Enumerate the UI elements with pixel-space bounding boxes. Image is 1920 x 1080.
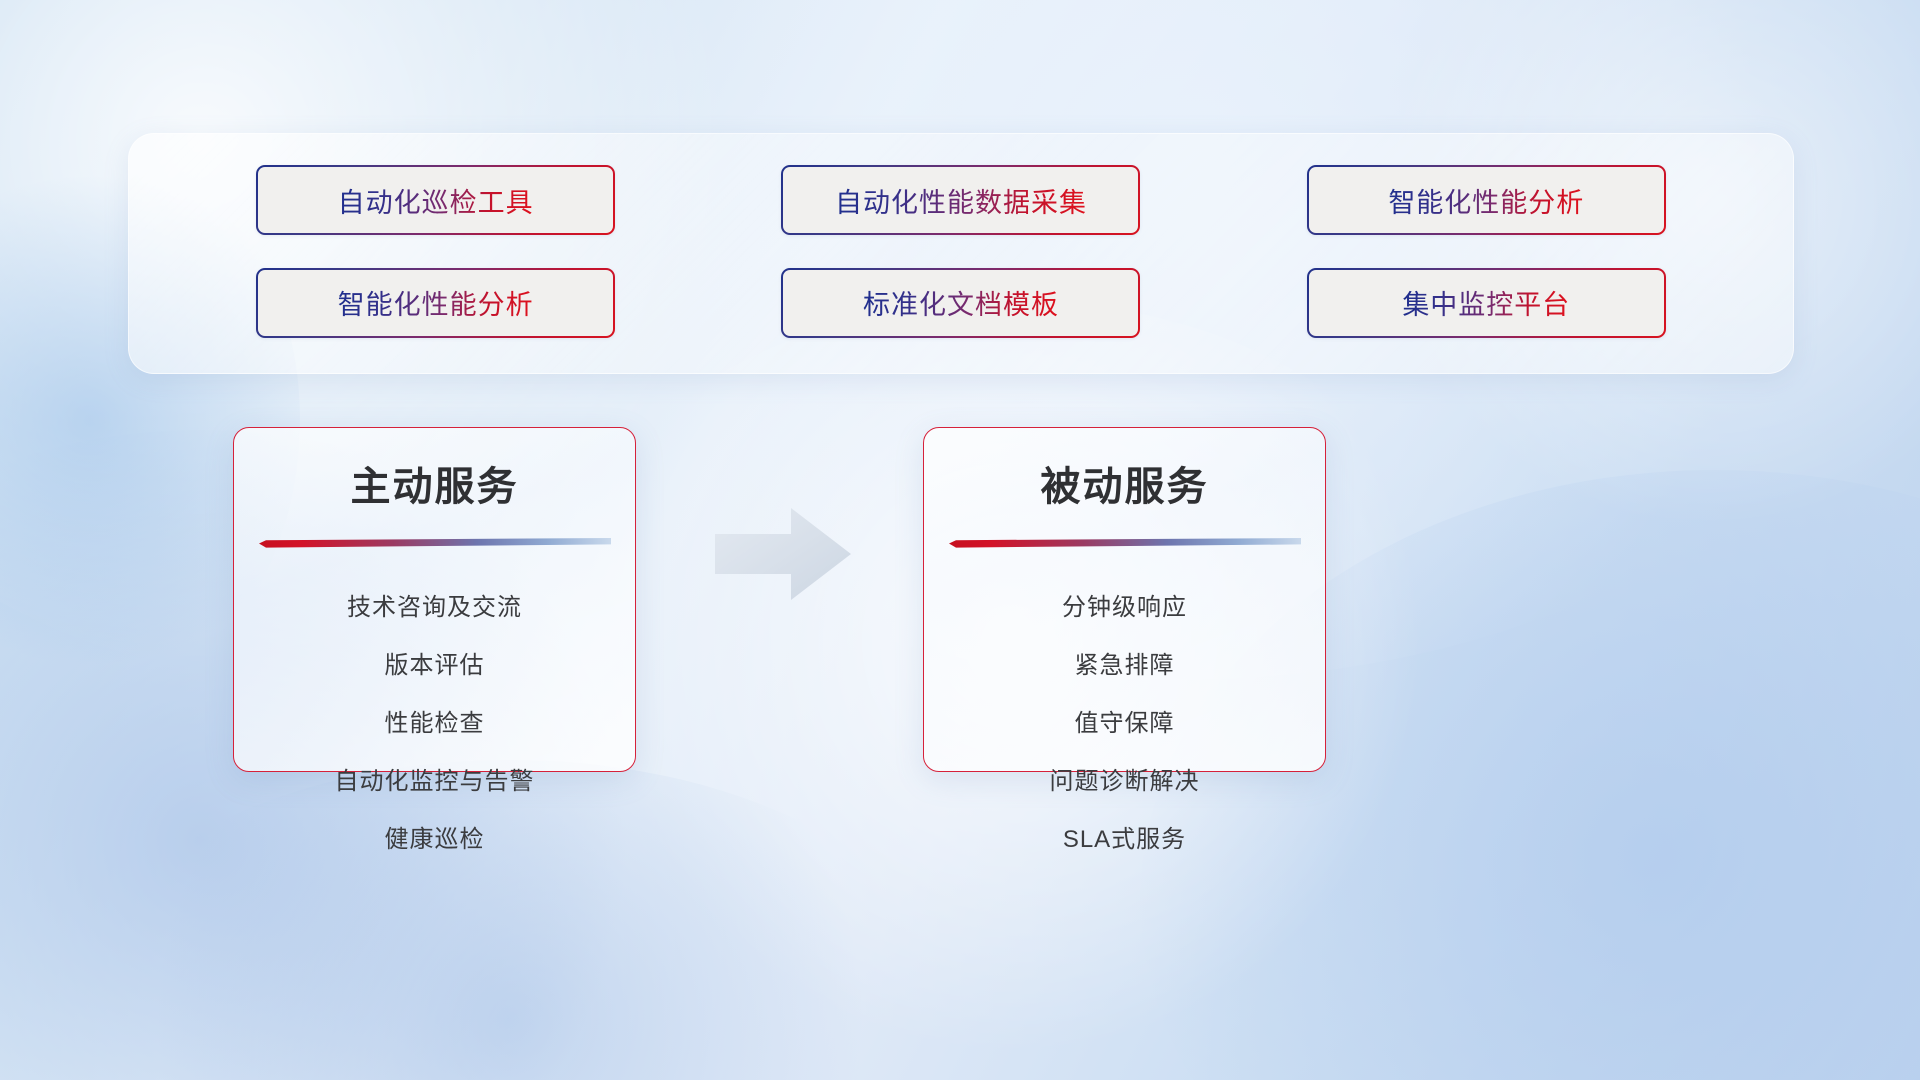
title-divider	[949, 538, 1301, 549]
capability-pill-6[interactable]: 集中监控平台	[1307, 268, 1666, 338]
list-item: 版本评估	[234, 637, 635, 695]
list-item: 自动化监控与告警	[234, 753, 635, 811]
list-item: 问题诊断解决	[924, 753, 1325, 811]
service-card-reactive: 被动服务 分钟级响应 紧急排障 值守保障 问题诊断解决 SLA式服务	[923, 427, 1326, 772]
capability-pill-label: 集中监控平台	[1402, 283, 1570, 322]
list-item: 技术咨询及交流	[234, 579, 635, 637]
capability-pill-label: 标准化文档模板	[863, 283, 1059, 322]
list-item: 值守保障	[924, 695, 1325, 753]
title-divider	[259, 538, 611, 549]
capability-pill-label: 智能化性能分析	[338, 283, 534, 322]
capability-pill-3[interactable]: 智能化性能分析	[1307, 165, 1666, 235]
capability-pill-1[interactable]: 自动化巡检工具	[256, 165, 615, 235]
list-item: 紧急排障	[924, 637, 1325, 695]
list-item: 健康巡检	[234, 811, 635, 869]
card-title: 被动服务	[924, 454, 1325, 512]
capability-tags-panel: 自动化巡检工具 自动化性能数据采集 智能化性能分析 智能化性能分析 标准化文档模…	[128, 133, 1794, 374]
service-list-reactive: 分钟级响应 紧急排障 值守保障 问题诊断解决 SLA式服务	[924, 579, 1325, 869]
capability-pill-label: 自动化巡检工具	[338, 181, 534, 220]
card-title: 主动服务	[234, 454, 635, 512]
list-item: SLA式服务	[924, 811, 1325, 869]
service-list-proactive: 技术咨询及交流 版本评估 性能检查 自动化监控与告警 健康巡检	[234, 579, 635, 869]
capability-pill-grid: 自动化巡检工具 自动化性能数据采集 智能化性能分析 智能化性能分析 标准化文档模…	[129, 134, 1793, 373]
capability-pill-label: 自动化性能数据采集	[835, 181, 1087, 220]
list-item: 分钟级响应	[924, 579, 1325, 637]
capability-pill-4[interactable]: 智能化性能分析	[256, 268, 615, 338]
right-arrow-icon	[713, 504, 853, 604]
list-item: 性能检查	[234, 695, 635, 753]
capability-pill-2[interactable]: 自动化性能数据采集	[781, 165, 1140, 235]
capability-pill-label: 智能化性能分析	[1388, 181, 1584, 220]
service-card-proactive: 主动服务 技术咨询及交流 版本评估 性能检查 自动化监控与告警 健康巡检	[233, 427, 636, 772]
capability-pill-5[interactable]: 标准化文档模板	[781, 268, 1140, 338]
